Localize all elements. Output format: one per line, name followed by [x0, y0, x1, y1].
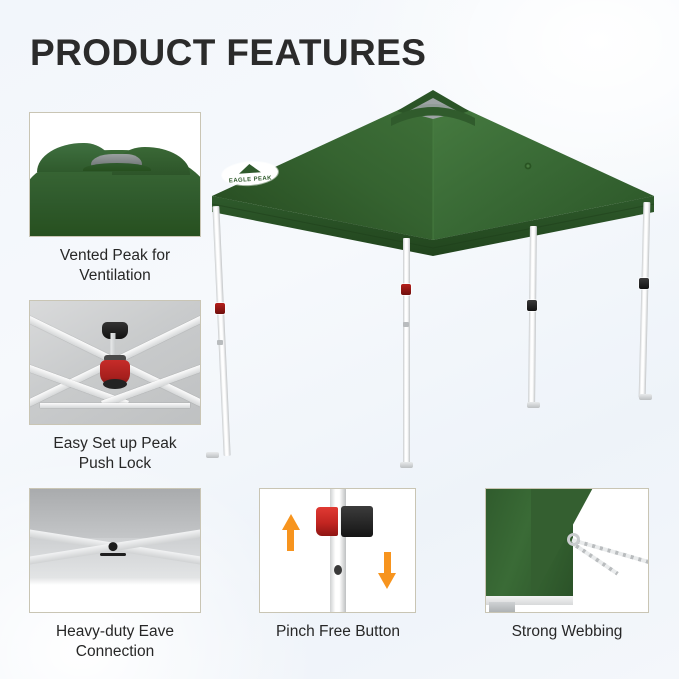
leg-joint-front-center [403, 322, 409, 327]
caption-line-2: Push Lock [22, 454, 208, 474]
button-housing [341, 506, 373, 537]
eave-connector-hub [109, 542, 118, 551]
feature-caption-vented-peak: Vented Peak for Ventilation [22, 246, 208, 286]
pinch-free-button-front-center [401, 284, 411, 295]
red-push-lock-knob [100, 360, 130, 385]
canopy-foot-back-right [639, 394, 652, 400]
hero-canopy-image: EAGLE PEAK [198, 78, 668, 478]
feature-image-push-lock [29, 300, 201, 425]
feature-vented-peak: Vented Peak for Ventilation [22, 112, 208, 286]
caption-line-1: Easy Set up Peak [22, 434, 208, 454]
caption-line-1: Strong Webbing [478, 622, 656, 642]
feature-pinch-free-button: Pinch Free Button [255, 488, 421, 642]
feature-image-pinch-free-button [259, 488, 416, 613]
caption-line-2: Connection [22, 642, 208, 662]
feature-caption-pinch-free-button: Pinch Free Button [255, 622, 421, 642]
canopy-roof-graphic [198, 78, 668, 478]
page-title: PRODUCT FEATURES [30, 32, 426, 74]
feature-push-lock: Easy Set up Peak Push Lock [22, 300, 208, 474]
red-release-button [316, 507, 338, 536]
feature-caption-eave-connection: Heavy-duty Eave Connection [22, 622, 208, 662]
feature-strong-webbing: Strong Webbing [478, 488, 656, 642]
feature-caption-strong-webbing: Strong Webbing [478, 622, 656, 642]
feature-image-strong-webbing [485, 488, 649, 613]
product-features-page: PRODUCT FEATURES [0, 0, 679, 679]
caption-line-1: Vented Peak for [22, 246, 208, 266]
pinch-free-button-back-right [639, 278, 649, 289]
mountain-peak-icon [238, 163, 261, 174]
pinch-free-button-front-left [215, 303, 225, 314]
feature-caption-push-lock: Easy Set up Peak Push Lock [22, 434, 208, 474]
canopy-foot-back-left [527, 402, 540, 408]
feature-eave-connection: Heavy-duty Eave Connection [22, 488, 208, 662]
feature-image-vented-peak [29, 112, 201, 237]
leg-joint-front-left [217, 340, 223, 345]
canopy-foot-front-center [400, 462, 413, 468]
caption-line-1: Pinch Free Button [255, 622, 421, 642]
arrow-down-shaft [384, 552, 391, 578]
arrow-up-shaft [287, 525, 294, 551]
pinch-free-button-back-left [527, 300, 537, 311]
canopy-leg-front-center [403, 238, 410, 466]
caption-line-1: Heavy-duty Eave [22, 622, 208, 642]
caption-line-2: Ventilation [22, 266, 208, 286]
feature-image-eave-connection [29, 488, 201, 613]
